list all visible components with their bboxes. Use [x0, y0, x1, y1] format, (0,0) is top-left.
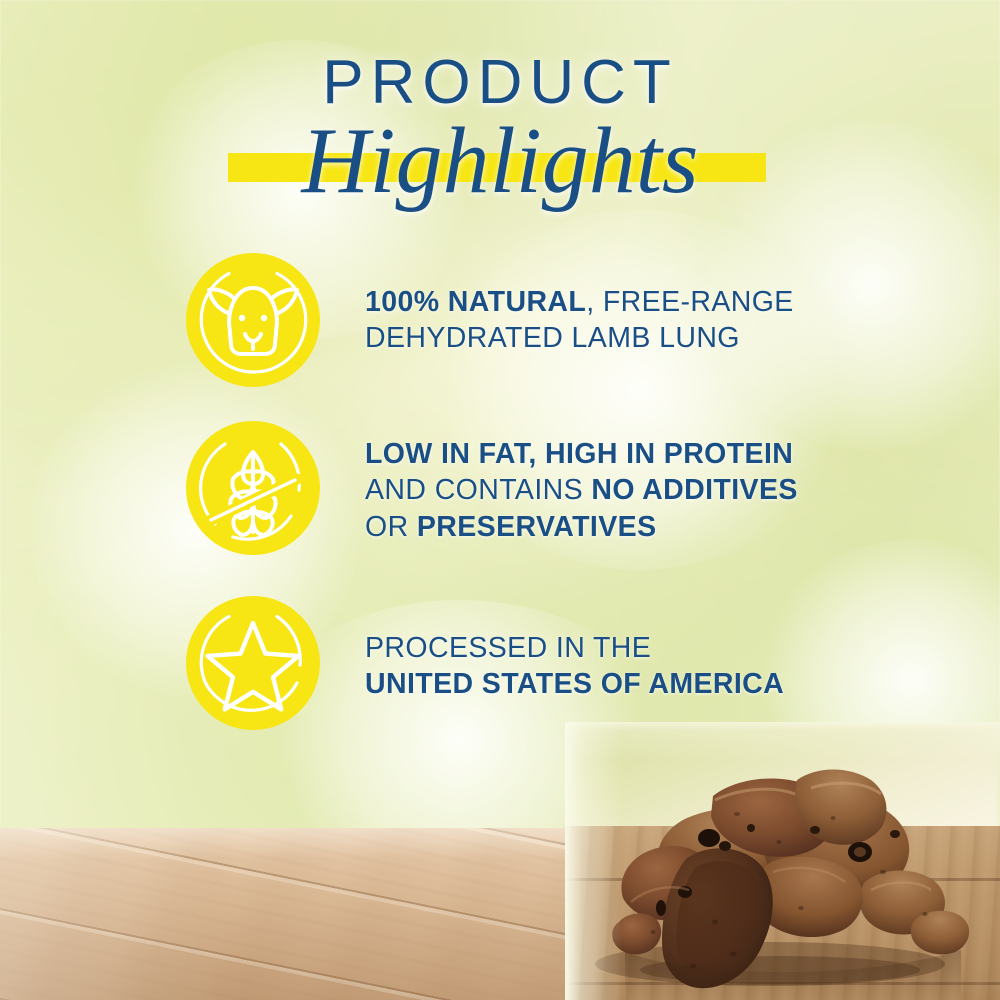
feature-text-strong: UNITED STATES OF AMERICA: [365, 668, 784, 700]
feature-line: DEHYDRATED LAMB LUNG: [365, 320, 925, 356]
feature-text-strong: LOW IN FAT, HIGH IN PROTEIN: [365, 438, 793, 470]
feature-text-grain-free: LOW IN FAT, HIGH IN PROTEIN AND CONTAINS…: [365, 436, 925, 545]
star-icon: [185, 595, 321, 731]
no-grain-icon: [185, 420, 321, 556]
feature-text-regular: DEHYDRATED LAMB LUNG: [365, 322, 740, 354]
feature-text-made-in-usa: PROCESSED IN THE UNITED STATES OF AMERIC…: [365, 630, 925, 703]
feature-text-regular: PROCESSED IN THE: [365, 632, 651, 664]
feature-line: LOW IN FAT, HIGH IN PROTEIN: [365, 436, 925, 472]
feature-text-lamb: 100% NATURAL, FREE-RANGE DEHYDRATED LAMB…: [365, 284, 925, 357]
feature-text-strong: 100% NATURAL: [365, 286, 586, 318]
feature-text-strong: PRESERVATIVES: [417, 511, 657, 543]
feature-line: AND CONTAINS NO ADDITIVES: [365, 472, 925, 508]
feature-line: 100% NATURAL, FREE-RANGE: [365, 284, 925, 320]
page-title-script-wrap: Highlights: [0, 112, 1000, 222]
infographic-canvas: PRODUCT Highlights: [0, 0, 1000, 1000]
feature-text-strong: NO ADDITIVES: [591, 474, 797, 506]
page-title-secondary: Highlights: [0, 112, 1000, 211]
feature-line: OR PRESERVATIVES: [365, 509, 925, 545]
feature-text-regular: , FREE-RANGE: [586, 286, 794, 318]
lamb-lung-pieces: [565, 722, 1000, 1000]
page-title-primary: PRODUCT: [0, 52, 1000, 114]
feature-text-regular: OR: [365, 511, 417, 543]
feature-line: PROCESSED IN THE: [365, 630, 925, 666]
product-photo: [565, 722, 1000, 1000]
feature-line: UNITED STATES OF AMERICA: [365, 666, 925, 702]
lamb-head-icon: [185, 252, 321, 388]
feature-text-regular: AND CONTAINS: [365, 474, 591, 506]
